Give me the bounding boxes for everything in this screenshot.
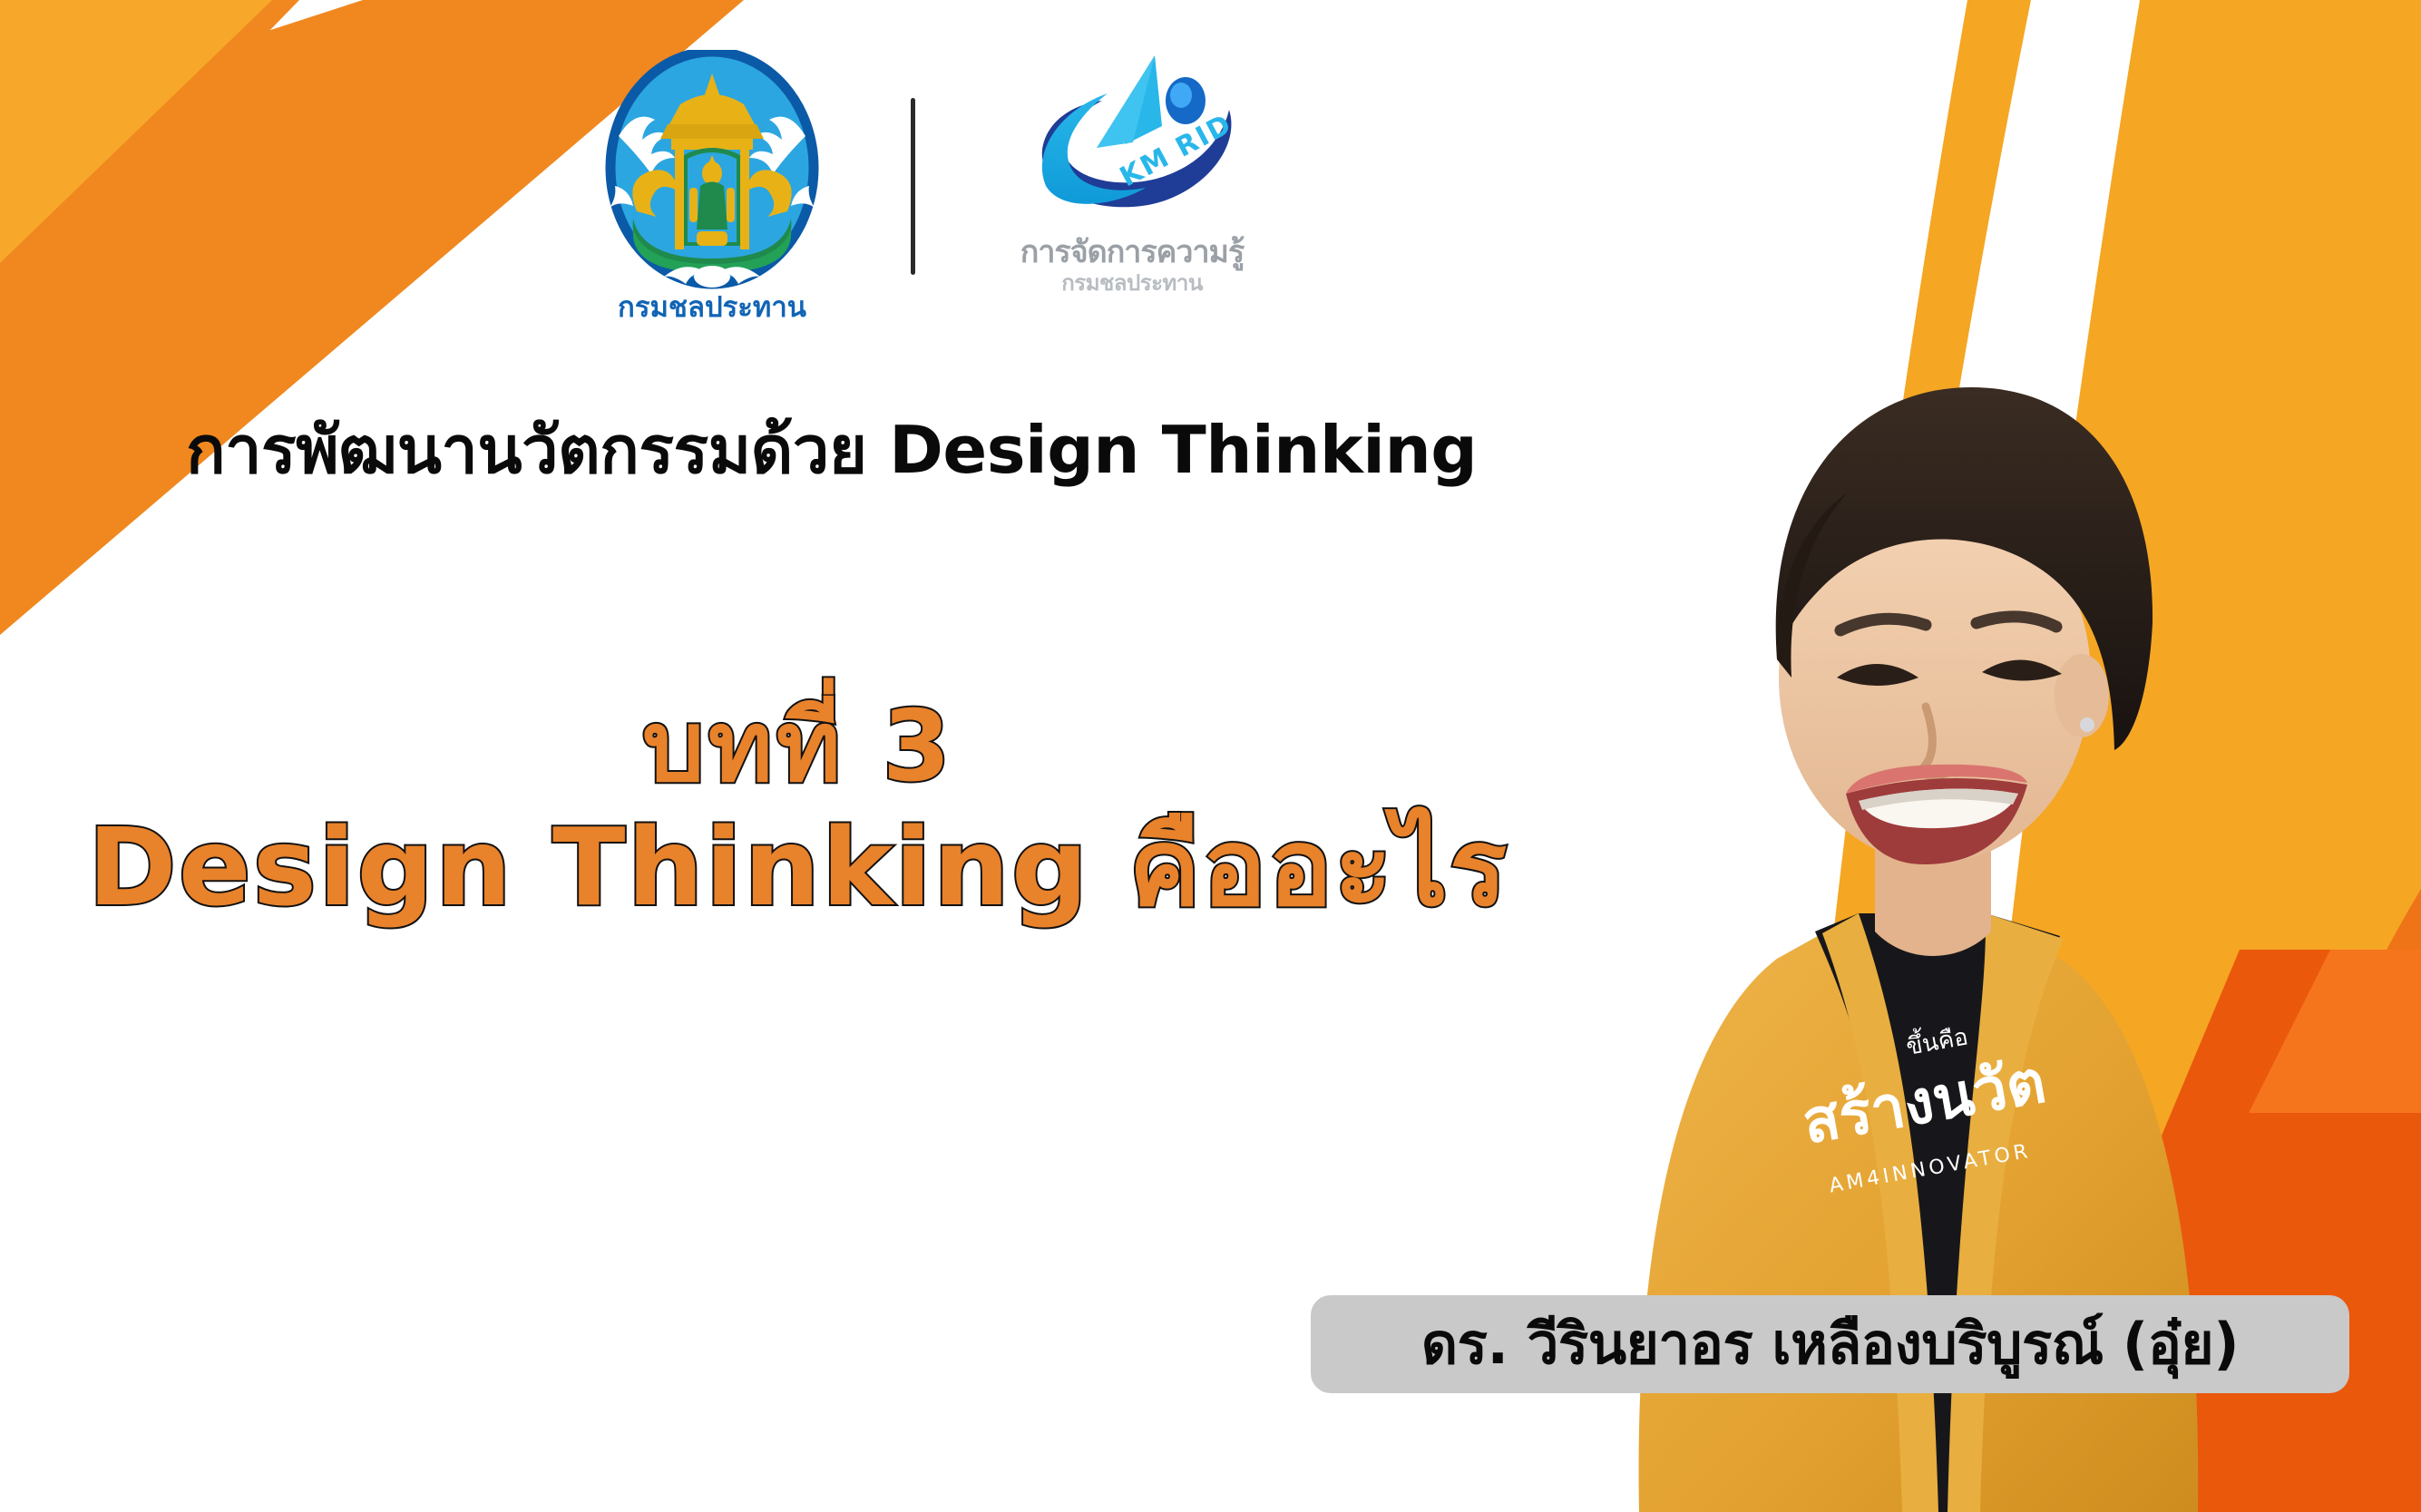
speaker-name-plate: ดร. วีรินยาอร เหลืองบริบูรณ์ (อุ๋ย) (1311, 1295, 2349, 1393)
km-rid-swoosh-icon: KM RID (1019, 50, 1245, 240)
km-caption-secondary: กรมชลประทาน (1061, 271, 1202, 297)
branding-logo-row: กรมชลประทาน (581, 50, 1282, 322)
logo-divider (911, 98, 915, 275)
rid-garuda-emblem-icon: กรมชลประทาน (581, 50, 844, 322)
emblem-caption: กรมชลประทาน (562, 284, 862, 329)
course-title: การพัฒนานวัตกรรมด้วย Design Thinking (186, 417, 1477, 483)
km-caption-primary: การจัดการความรู้ (1020, 237, 1244, 268)
slide-canvas: กรมชลประทาน (0, 0, 2421, 1512)
km-rid-logo: KM RID การจัดการความรู้ กรมชลประทาน (982, 50, 1282, 322)
speaker-name: ดร. วีรินยาอร เหลืองบริบูรณ์ (อุ๋ย) (1421, 1316, 2239, 1372)
